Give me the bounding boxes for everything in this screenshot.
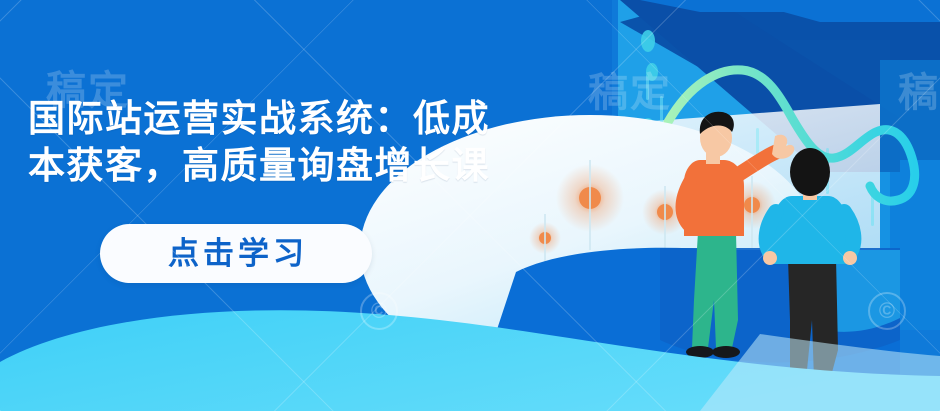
cta-button-label: 点击学习	[164, 238, 308, 269]
title-line-2: 本获客，高质量询盘增长课	[28, 142, 608, 189]
title-line-1: 国际站运营实战系统：低成	[28, 95, 608, 142]
illustration-artwork	[0, 0, 940, 411]
click-to-learn-button[interactable]: 点击学习	[100, 224, 372, 283]
page-title: 国际站运营实战系统：低成 本获客，高质量询盘增长课	[28, 95, 608, 189]
promo-banner: 稿定 稿定 稿定 国际站运营实战系统：低成 本获客，高质量询盘增长课 点击学习 …	[0, 0, 940, 411]
